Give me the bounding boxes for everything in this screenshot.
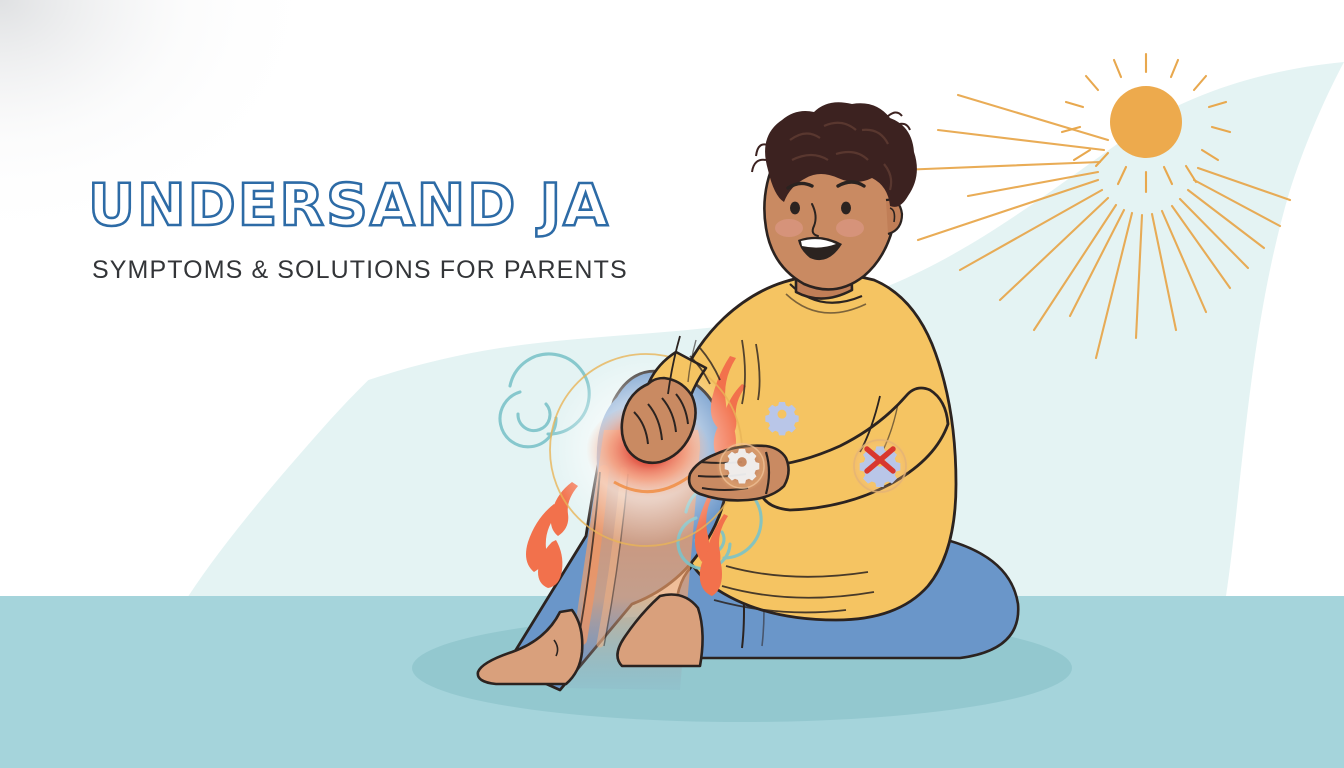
sun-disc [1110, 86, 1182, 158]
eye-right [841, 202, 851, 215]
gear-on-forearm-glyph [765, 402, 798, 435]
gear-on-hand [716, 440, 768, 492]
illustration [0, 0, 1344, 768]
gear-with-x-on-torso [850, 436, 910, 496]
corner-vignette [0, 0, 330, 250]
cheek-left [775, 219, 803, 237]
eye-left [790, 202, 800, 215]
gear-on-forearm [765, 402, 798, 435]
blocked-gear-glyph [860, 446, 901, 487]
cheek-right [836, 219, 864, 237]
poster-canvas: UNDERSAND JA SYMPTOMS & SOLUTIONS FOR PA… [0, 0, 1344, 768]
gear-on-hand-glyph [725, 449, 760, 484]
